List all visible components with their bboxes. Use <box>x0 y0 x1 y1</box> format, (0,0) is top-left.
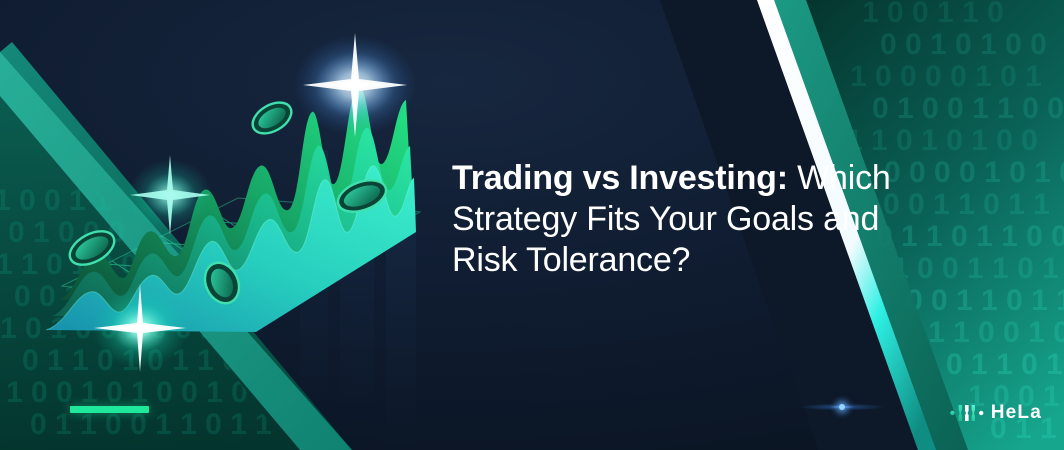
hela-logo-mark <box>950 403 984 423</box>
headline: Trading vs Investing: Which Strategy Fit… <box>452 158 972 281</box>
logo-bar-2 <box>965 405 969 421</box>
svg-text:0 1 1 0 1 1: 0 1 1 0 1 1 <box>946 348 1064 381</box>
accent-bar <box>70 406 149 413</box>
svg-text:1 1 0 0 1 0: 1 1 0 0 1 0 <box>928 316 1064 349</box>
svg-text:1 0 0 0 0 1 0 1: 1 0 0 0 0 1 0 1 <box>850 60 1042 93</box>
svg-text:0 0 1 0 1 0 0: 0 0 1 0 1 0 0 <box>880 28 1047 61</box>
svg-text:1 1 0 1 0 1 0 0: 1 1 0 1 0 1 0 0 <box>846 124 1038 157</box>
svg-text:0 1 1 0 0 1 1 0 1 1: 0 1 1 0 0 1 1 0 1 1 <box>30 408 272 441</box>
lens-flare <box>782 402 902 412</box>
svg-text:1 0 0 1 1 0: 1 0 0 1 1 0 <box>862 0 1004 29</box>
headline-line-3: Risk Tolerance? <box>452 240 972 281</box>
logo-bar-1 <box>958 405 961 421</box>
logo-dot-right <box>979 411 983 415</box>
lens-flare-core <box>839 404 845 410</box>
logo-bar-3 <box>971 405 974 421</box>
headline-line-2: Strategy Fits Your Goals and <box>452 199 972 240</box>
svg-text:0 1 0 0 1 1 0 0: 0 1 0 0 1 1 0 0 <box>872 92 1064 125</box>
logo-dot-left <box>950 411 954 415</box>
svg-text:1 0 0 1 0 1 0 0 1 0: 1 0 0 1 0 1 0 0 1 0 <box>6 376 248 409</box>
headline-emphasis: Trading vs Investing: <box>452 159 788 197</box>
logo-wordmark: HeLa <box>991 402 1042 424</box>
headline-line-1-rest: Which <box>788 159 891 197</box>
promo-banner: 1 0 0 1 1 0 0 0 1 0 1 0 0 1 0 0 0 0 1 0 … <box>0 0 1064 450</box>
headline-line-1: Trading vs Investing: Which <box>452 158 972 199</box>
svg-text:0 0 1 1 0 1 1: 0 0 1 1 0 1 1 <box>906 284 1064 317</box>
hela-logo[interactable]: HeLa <box>950 402 1042 424</box>
